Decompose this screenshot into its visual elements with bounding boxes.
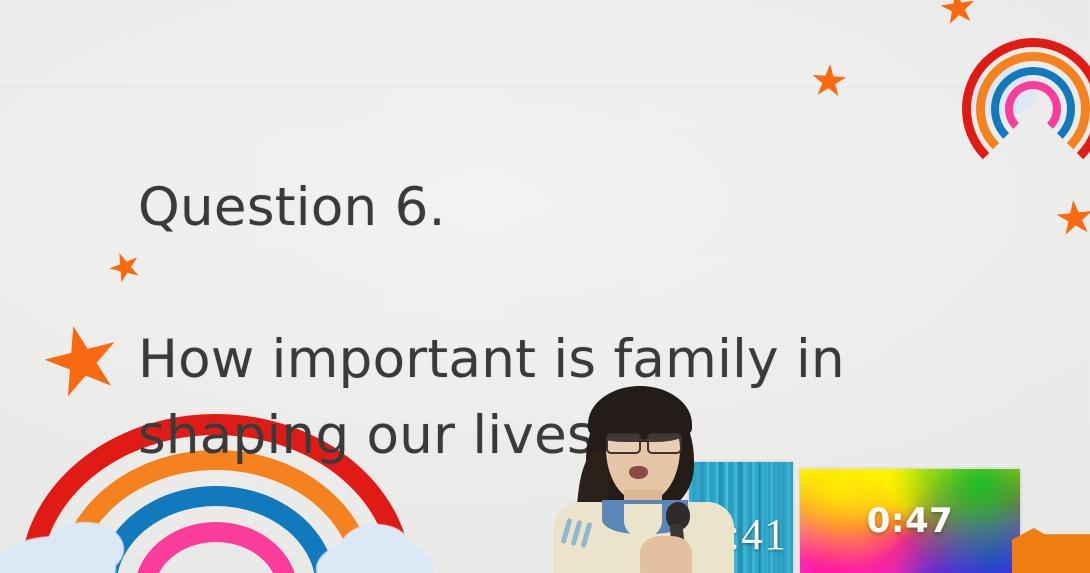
presenter-collar-opening	[624, 504, 662, 538]
question-number: Question 6.	[138, 170, 1018, 246]
cloud-icon	[46, 522, 124, 573]
glasses-lens-right	[647, 433, 682, 454]
presenter-mouth	[629, 466, 648, 479]
presentation-slide-screenshot: Question 6. How important is family in s…	[0, 0, 1090, 573]
presenter-hand	[640, 536, 692, 573]
presenter-person	[548, 386, 738, 573]
glasses-lens-left	[606, 433, 641, 454]
rainbow-timer-thumbnail[interactable]: 0:47	[800, 469, 1020, 573]
rainbow-timer-label: 0:47	[800, 501, 1020, 541]
orange-arrow-icon	[1012, 528, 1090, 573]
glasses-icon	[606, 433, 682, 450]
screen-seam-line	[0, 86, 1090, 88]
